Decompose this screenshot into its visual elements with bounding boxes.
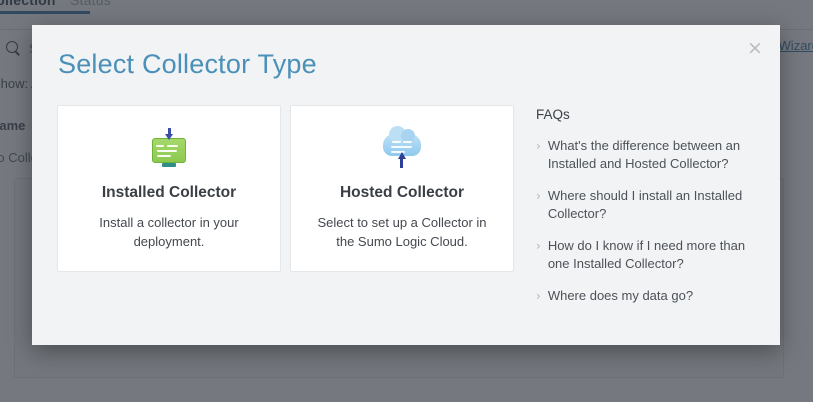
cloud-text-line — [403, 141, 412, 143]
card-installed-collector-title: Installed Collector — [102, 184, 236, 202]
chevron-right-icon: › — [536, 287, 541, 305]
hosted-collector-cloud-icon — [379, 128, 425, 172]
monitor-stand-shape — [162, 163, 176, 167]
cloud-text-line — [391, 146, 412, 148]
faq-link-label: Where does my data go? — [548, 287, 693, 305]
download-arrow-icon — [166, 128, 172, 141]
chevron-right-icon: › — [536, 137, 541, 173]
dialog-body: Installed Collector Install a collector … — [57, 105, 760, 319]
faq-link-label: Where should I install an Installed Coll… — [548, 187, 760, 223]
monitor-text-line — [157, 150, 177, 152]
faq-link[interactable]: › How do I know if I need more than one … — [536, 237, 760, 273]
monitor-text-line — [167, 145, 178, 147]
card-hosted-collector-title: Hosted Collector — [340, 184, 464, 202]
faqs-heading: FAQs — [536, 107, 760, 122]
card-hosted-collector-description: Select to set up a Collector in the Sumo… — [312, 213, 492, 251]
faqs-section: FAQs › What's the difference between an … — [536, 105, 760, 319]
card-hosted-collector[interactable]: Hosted Collector Select to set up a Coll… — [290, 105, 514, 272]
monitor-text-line — [156, 145, 164, 147]
chevron-right-icon: › — [536, 187, 541, 223]
installed-collector-monitor-icon — [146, 128, 192, 172]
select-collector-type-dialog: × Select Collector Type Installed Colle — [32, 25, 780, 345]
dialog-title: Select Collector Type — [58, 49, 317, 80]
close-icon[interactable]: × — [744, 37, 766, 59]
cloud-text-line — [392, 141, 401, 143]
faq-link[interactable]: › What's the difference between an Insta… — [536, 137, 760, 173]
faq-link[interactable]: › Where should I install an Installed Co… — [536, 187, 760, 223]
faq-link-label: What's the difference between an Install… — [548, 137, 760, 173]
collector-type-cards: Installed Collector Install a collector … — [57, 105, 514, 272]
card-installed-collector[interactable]: Installed Collector Install a collector … — [57, 105, 281, 272]
chevron-right-icon: › — [536, 237, 541, 273]
faq-link[interactable]: › Where does my data go? — [536, 287, 760, 305]
card-installed-collector-description: Install a collector in your deployment. — [79, 213, 259, 251]
faq-link-label: How do I know if I need more than one In… — [548, 237, 760, 273]
upload-arrow-icon — [398, 152, 406, 168]
app-root: Collection Status Search Show: All Name … — [0, 0, 813, 402]
monitor-text-line — [157, 155, 171, 157]
